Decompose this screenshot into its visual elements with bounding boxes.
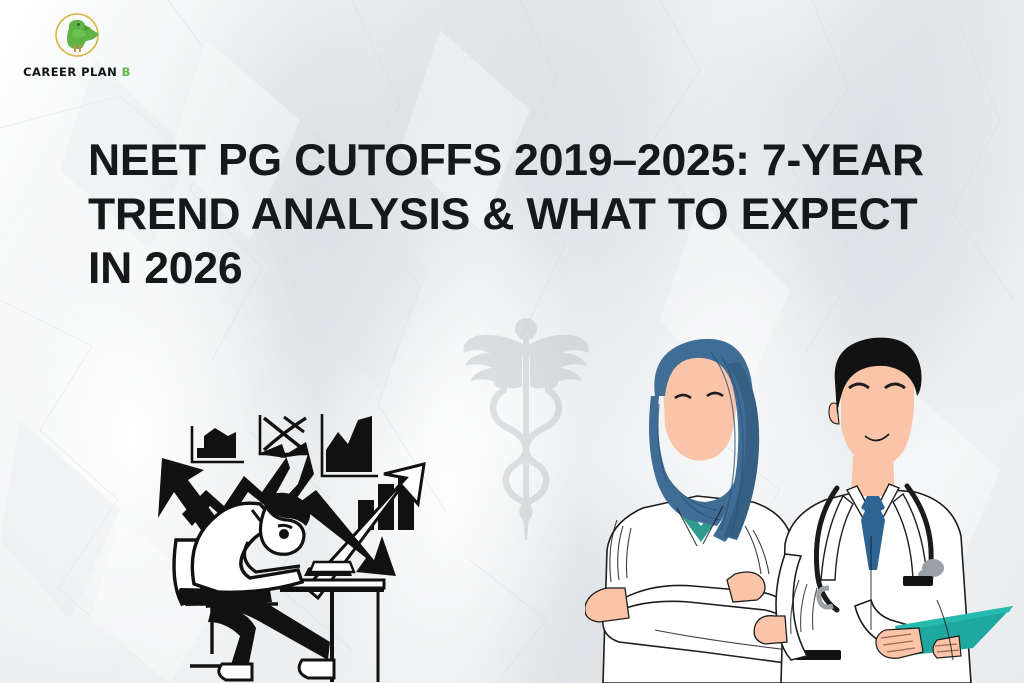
- page-title-line-2: TREND ANALYSIS & WHAT TO EXPECT: [88, 188, 938, 242]
- logo-wordmark: CAREER PLAN B: [18, 65, 136, 79]
- logo-word-b: B: [122, 65, 131, 79]
- logo-word-career-plan: CAREER PLAN: [23, 65, 117, 79]
- mini-chart-area-3: [322, 414, 378, 476]
- caduceus-icon: [460, 308, 592, 546]
- page-title: NEET PG CUTOFFS 2019–2025: 7-YEAR TREND …: [88, 134, 938, 296]
- logo[interactable]: CAREER PLAN B: [18, 10, 136, 79]
- student-at-desk-illustration: [152, 392, 434, 683]
- mini-chart-area-1: [192, 426, 244, 462]
- page-title-line-1: NEET PG CUTOFFS 2019–2025: 7-YEAR: [88, 134, 938, 188]
- arrow-up-outline-icon: [306, 464, 424, 598]
- page-title-line-3: IN 2026: [88, 242, 938, 296]
- doctors-illustration: [585, 330, 1024, 683]
- blog-banner: CAREER PLAN B NEET PG CUTOFFS 2019–2025:…: [0, 0, 1024, 683]
- laptop-and-books: [304, 562, 354, 576]
- male-doctor-clipboard: [754, 338, 1013, 683]
- bird-logo-icon: [47, 10, 107, 64]
